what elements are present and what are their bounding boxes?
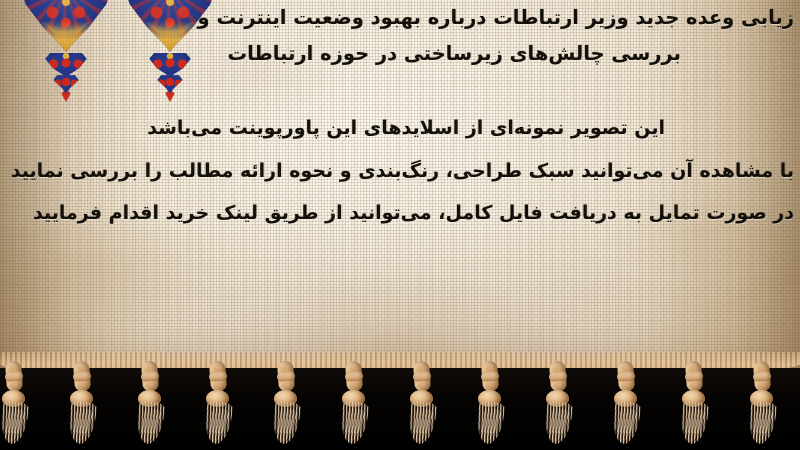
fringe-tassel: [674, 368, 714, 450]
body-line-2: با مشاهده آن می‌توانید سبک طراحی، رنگ‌بن…: [11, 160, 794, 182]
tassel-knot: [685, 360, 703, 391]
fringe-tassel: [538, 368, 578, 450]
fringe-tassel: [334, 368, 374, 450]
title-line-1: زیابی وعده جدید وزیر ارتباطات درباره بهب…: [198, 6, 794, 29]
tassel-knot: [73, 360, 91, 391]
tassel-knot: [413, 360, 431, 391]
tassel-knot: [753, 360, 771, 391]
tassel-knot: [5, 360, 23, 391]
fringe-tassel: [266, 368, 306, 450]
tassel-knot: [549, 360, 567, 391]
fringe-tassel: [62, 368, 102, 450]
text-layer: زیابی وعده جدید وزیر ارتباطات درباره بهب…: [0, 0, 800, 372]
title-line-2: بررسی چالش‌های زیرساختی در حوزه ارتباطات: [228, 42, 681, 65]
fringe-tassel: [606, 368, 646, 450]
tassel-knot: [209, 360, 227, 391]
fringe-tassel: [0, 368, 34, 450]
black-fringe-field: [0, 368, 800, 450]
fringe-tassel: [470, 368, 510, 450]
fringe-tassel: [198, 368, 238, 450]
body-line-3: در صورت تمایل به دریافت فایل کامل، می‌تو…: [33, 202, 794, 224]
tassel-knot: [617, 360, 635, 391]
slide-canvas: زیابی وعده جدید وزیر ارتباطات درباره بهب…: [0, 0, 800, 450]
tassel-knot: [277, 360, 295, 391]
body-line-1: این تصویر نمونه‌ای از اسلایدهای این پاور…: [147, 117, 665, 139]
fringe-tassel: [130, 368, 170, 450]
tassel-knot: [345, 360, 363, 391]
fringe-tassel: [742, 368, 782, 450]
tassel-knot: [141, 360, 159, 391]
fringe-tassel: [402, 368, 442, 450]
tassel-knot: [481, 360, 499, 391]
